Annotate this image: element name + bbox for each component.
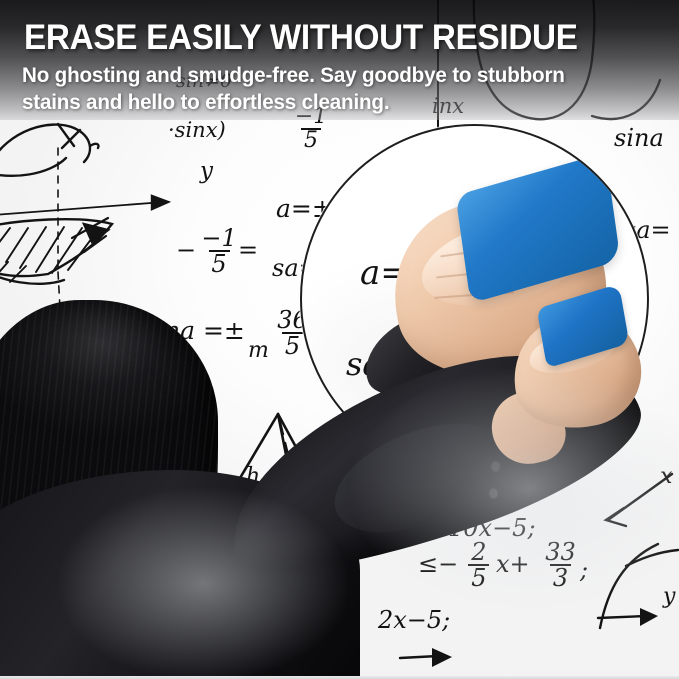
equation-x-plus: x+ bbox=[496, 552, 530, 576]
frac-body: −1 5 bbox=[199, 226, 240, 277]
equation-semicolon: ; bbox=[580, 558, 588, 582]
fraction-minus1-over-5-mid: − −1 5 bbox=[176, 226, 242, 277]
subheadline-text: No ghosting and smudge-free. Say goodbye… bbox=[22, 62, 617, 115]
fraction-2-over-5: 2 5 bbox=[466, 540, 492, 591]
equation-sina: sina bbox=[614, 126, 664, 150]
frac-numerator: −1 bbox=[199, 226, 240, 250]
leading-minus: − bbox=[176, 236, 196, 264]
equation-leq-minus: ≤− bbox=[418, 552, 458, 576]
frac-numerator: 33 bbox=[542, 540, 578, 564]
frac-body: 2 5 bbox=[468, 540, 489, 591]
fraction-33-over-3: 33 3 bbox=[540, 540, 581, 591]
frac-denominator: 5 bbox=[282, 332, 303, 358]
frac-numerator: 2 bbox=[468, 540, 489, 564]
frac-denominator: 5 bbox=[209, 250, 230, 276]
sleeve-button-2 bbox=[490, 489, 497, 498]
frac-denominator: 5 bbox=[468, 564, 489, 590]
equation-equals-mid: = bbox=[238, 238, 258, 262]
frac-body: 33 3 bbox=[542, 540, 578, 591]
equation-y-axis-label: y bbox=[663, 586, 675, 608]
frac-denominator: 3 bbox=[550, 564, 571, 590]
sleeve-button-1 bbox=[492, 462, 499, 471]
headline-text: ERASE EASILY WITHOUT RESIDUE bbox=[24, 18, 578, 58]
equation-y-label: y bbox=[200, 160, 213, 183]
fraction-m-denominator: m bbox=[248, 340, 269, 362]
equation-2x-minus-5: 2x−5; bbox=[378, 608, 450, 632]
frac-denominator: 5 bbox=[301, 128, 320, 152]
equation-x-axis-label: x bbox=[660, 466, 672, 488]
equation-sinx-paren: ·sinx) bbox=[168, 120, 226, 141]
product-image-scene: sin≠0 ·sinx) y inx seca sina cosa= cosa=… bbox=[0, 0, 679, 679]
